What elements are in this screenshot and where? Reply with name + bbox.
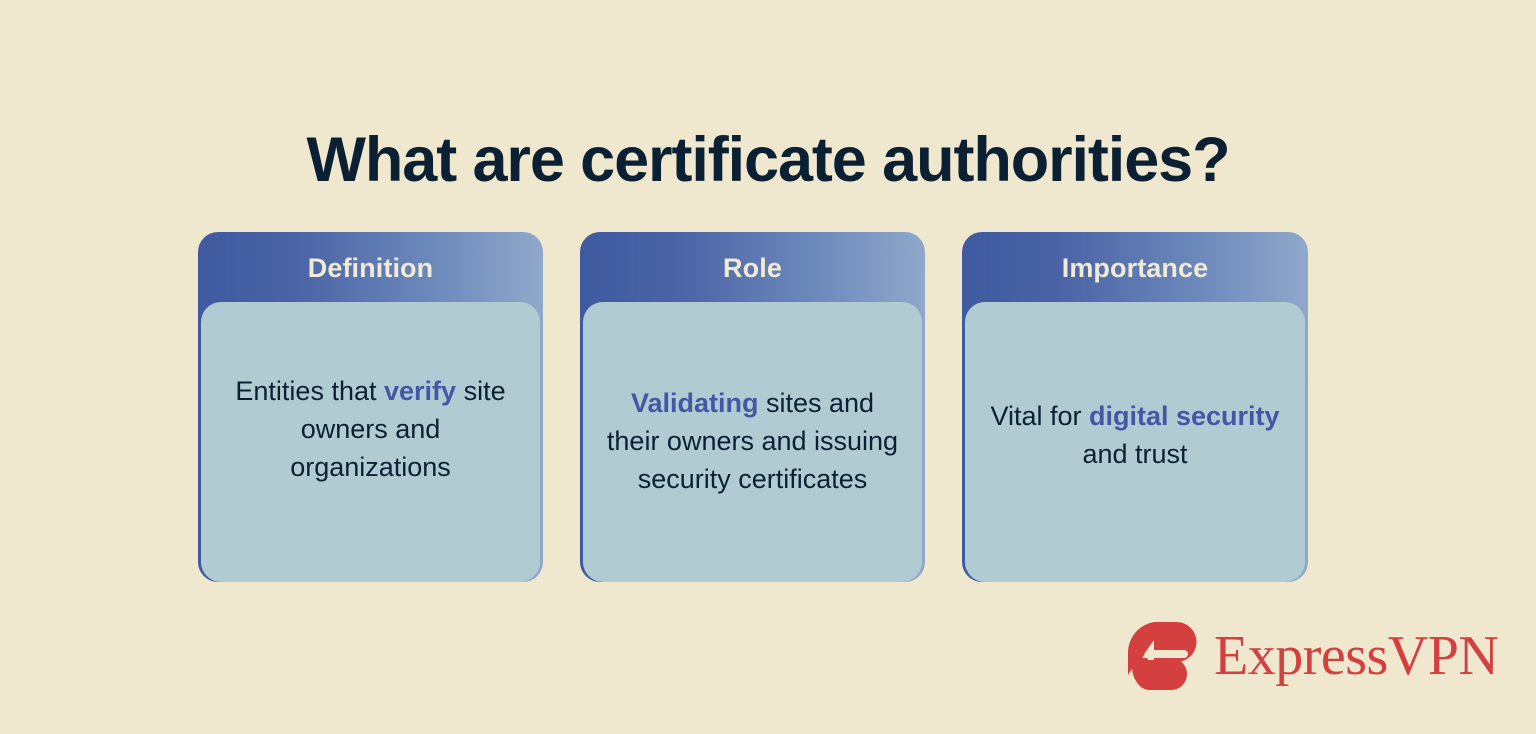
brand-logo: ExpressVPN <box>1124 618 1450 694</box>
highlighted-term: digital security <box>1089 401 1280 431</box>
page-title: What are certificate authorities? <box>0 126 1536 194</box>
card-importance: Importance Vital for digital security an… <box>962 232 1308 582</box>
brand-wordmark: ExpressVPN <box>1214 628 1498 684</box>
card-body-definition: Entities that verify site owners and org… <box>201 302 540 582</box>
card-body-text: Validating sites and their owners and is… <box>601 385 904 498</box>
card-header-role: Role <box>580 232 925 304</box>
card-header-importance: Importance <box>962 232 1308 304</box>
body-text-run: Entities that <box>235 376 384 406</box>
card-body-text: Entities that verify site owners and org… <box>219 373 522 486</box>
card-header-label: Importance <box>1062 255 1209 282</box>
card-header-label: Role <box>723 255 782 282</box>
infographic-canvas: What are certificate authorities? Defini… <box>0 0 1536 734</box>
card-body-importance: Vital for digital security and trust <box>965 302 1305 582</box>
card-role: Role Validating sites and their owners a… <box>580 232 925 582</box>
cards-row: Definition Entities that verify site own… <box>198 232 1308 582</box>
card-definition: Definition Entities that verify site own… <box>198 232 543 582</box>
highlighted-term: verify <box>384 376 456 406</box>
card-body-text: Vital for digital security and trust <box>983 398 1287 474</box>
card-header-label: Definition <box>308 255 433 282</box>
body-text-run: and trust <box>1082 439 1187 469</box>
card-body-role: Validating sites and their owners and is… <box>583 302 922 582</box>
expressvpn-e-logo-icon <box>1124 620 1198 692</box>
body-text-run: Vital for <box>990 401 1089 431</box>
highlighted-term: Validating <box>631 388 759 418</box>
card-header-definition: Definition <box>198 232 543 304</box>
